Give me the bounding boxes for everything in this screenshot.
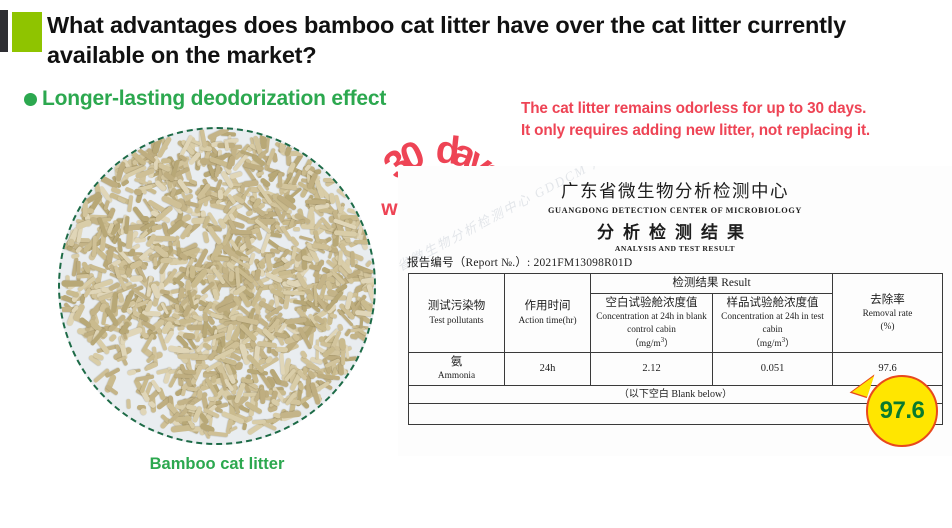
th-blank-cabin-en: Concentration at 24h in blank control ca… (594, 311, 709, 336)
page-title: What advantages does bamboo cat litter h… (47, 10, 927, 70)
th-test-cabin: 样品试验舱浓度值 Concentration at 24h in test ca… (713, 294, 833, 353)
logo-bar-icon (0, 10, 8, 52)
report-number-line: 报告编号（Report №.）: 2021FM13098R01D (407, 254, 632, 270)
claim-line-2: It only requires adding new litter, not … (521, 120, 951, 142)
table-header-group-row: 测试污染物 Test pollutants 作用时间 Action time(h… (409, 274, 943, 294)
certificate-en-subtitle-2: ANALYSIS AND TEST RESULT (398, 244, 952, 253)
product-photo-caption: Bamboo cat litter (58, 455, 376, 474)
product-photo (58, 127, 376, 445)
th-removal-rate-cn: 去除率 (836, 293, 939, 308)
table-tail-row (409, 403, 943, 424)
th-removal-rate: 去除率 Removal rate (%) (833, 274, 943, 353)
cell-blank-cabin: 2.12 (591, 353, 713, 385)
removal-rate-badge: 97.6 (866, 375, 938, 447)
section-subheading-label: Longer-lasting deodorization effect (42, 87, 386, 111)
certificate-cn-subtitle: 分析检测结果 (398, 218, 952, 243)
report-number-value: 2021FM13098R01D (534, 257, 633, 269)
th-pollutant: 测试污染物 Test pollutants (409, 274, 505, 353)
th-removal-rate-unit: (%) (836, 321, 939, 333)
cell-pollutant-en: Ammonia (412, 370, 501, 382)
section-subheading: Longer-lasting deodorization effect (24, 87, 386, 111)
cell-pollutant: 氨 Ammonia (409, 353, 505, 385)
th-pollutant-cn: 测试污染物 (412, 299, 501, 314)
certificate-en-subtitle: GUANGDONG DETECTION CENTER OF MICROBIOLO… (398, 206, 952, 215)
claim-line-1: The cat litter remains odorless for up t… (521, 98, 951, 120)
cell-test-cabin: 0.051 (713, 353, 833, 385)
th-pollutant-en: Test pollutants (412, 315, 501, 327)
cell-pollutant-cn: 氨 (412, 355, 501, 370)
th-action-time-en: Action time(hr) (508, 315, 587, 327)
test-result-table: 测试污染物 Test pollutants 作用时间 Action time(h… (408, 273, 943, 425)
cell-action-time: 24h (505, 353, 591, 385)
bullet-icon (24, 93, 37, 106)
bamboo-pellets-image (60, 129, 374, 443)
th-action-time-cn: 作用时间 (508, 299, 587, 314)
th-blank-cabin-unit: （mg/m3） (594, 336, 709, 350)
th-removal-rate-en: Removal rate (836, 308, 939, 320)
th-blank-cabin: 空白试验舱浓度值 Concentration at 24h in blank c… (591, 294, 713, 353)
th-blank-cabin-cn: 空白试验舱浓度值 (594, 296, 709, 311)
th-result-group: 检测结果 Result (591, 274, 833, 294)
th-test-cabin-en: Concentration at 24h in test cabin (716, 311, 829, 336)
slide-root: What advantages does bamboo cat litter h… (0, 0, 952, 528)
th-test-cabin-cn: 样品试验舱浓度值 (716, 296, 829, 311)
product-photo-circle (58, 127, 376, 445)
table-tail-cell (409, 403, 943, 424)
badge-value: 97.6 (866, 375, 938, 447)
th-test-cabin-unit: （mg/m3） (716, 336, 829, 350)
report-number-label: 报告编号（Report №.）: (407, 257, 530, 269)
logo-green-block-icon (12, 12, 42, 52)
certificate-cn-title: 广东省微生物分析检测中心 (398, 178, 952, 203)
claim-text: The cat litter remains odorless for up t… (521, 98, 951, 142)
th-action-time: 作用时间 Action time(hr) (505, 274, 591, 353)
